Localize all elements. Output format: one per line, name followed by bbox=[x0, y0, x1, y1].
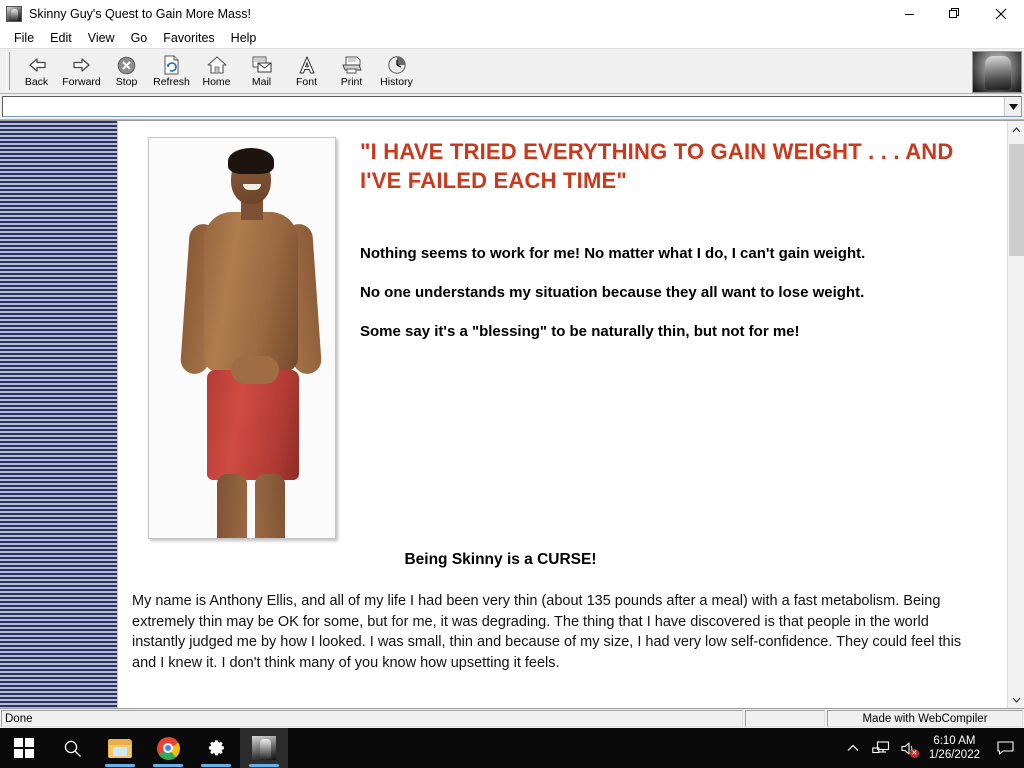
scrollbar-thumb[interactable] bbox=[1009, 144, 1024, 256]
toolbar-grip[interactable] bbox=[6, 52, 10, 90]
folder-icon bbox=[108, 739, 132, 758]
windows-logo-icon bbox=[14, 738, 34, 758]
home-label: Home bbox=[202, 77, 230, 88]
menu-bar: File Edit View Go Favorites Help bbox=[0, 28, 1024, 48]
back-label: Back bbox=[25, 77, 48, 88]
toolbar: Back Forward Stop bbox=[0, 48, 1024, 94]
refresh-button[interactable]: Refresh bbox=[149, 49, 194, 93]
taskbar-skinny-guy-app-button[interactable] bbox=[240, 728, 288, 768]
refresh-label: Refresh bbox=[153, 77, 190, 88]
address-bar bbox=[0, 94, 1024, 120]
hero-row: "I HAVE TRIED EVERYTHING TO GAIN WEIGHT … bbox=[132, 121, 989, 539]
restore-icon[interactable] bbox=[932, 0, 978, 28]
page-area: "I HAVE TRIED EVERYTHING TO GAIN WEIGHT … bbox=[0, 120, 1024, 708]
bold-paragraph-2: No one understands my situation because … bbox=[360, 282, 979, 303]
screen: Skinny Guy's Quest to Gain More Mass! bbox=[0, 0, 1024, 768]
print-button[interactable]: Print bbox=[329, 49, 374, 93]
gear-icon bbox=[205, 737, 227, 759]
history-label: History bbox=[380, 77, 413, 88]
running-indicator bbox=[249, 764, 279, 767]
taskbar-search-button[interactable] bbox=[48, 728, 96, 768]
chevron-up-icon[interactable] bbox=[839, 728, 867, 768]
start-button[interactable] bbox=[0, 728, 48, 768]
home-button[interactable]: Home bbox=[194, 49, 239, 93]
taskbar-chrome-button[interactable] bbox=[144, 728, 192, 768]
status-credit: Made with WebCompiler bbox=[827, 710, 1023, 727]
close-icon[interactable] bbox=[978, 0, 1024, 28]
scroll-down-icon[interactable] bbox=[1008, 691, 1024, 708]
chrome-icon bbox=[157, 737, 180, 760]
clock-time: 6:10 AM bbox=[929, 734, 980, 748]
speaker-muted-icon[interactable]: ✕ bbox=[895, 728, 923, 768]
bold-paragraph-3: Some say it's a "blessing" to be natural… bbox=[360, 321, 979, 342]
search-icon bbox=[63, 739, 82, 758]
font-letter-a-icon bbox=[297, 54, 317, 76]
back-button[interactable]: Back bbox=[14, 49, 59, 93]
running-indicator bbox=[153, 764, 183, 767]
muscle-photo-icon bbox=[251, 735, 277, 761]
page-headline: "I HAVE TRIED EVERYTHING TO GAIN WEIGHT … bbox=[360, 137, 979, 195]
menu-item-help[interactable]: Help bbox=[223, 30, 265, 46]
stop-label: Stop bbox=[116, 77, 138, 88]
print-label: Print bbox=[341, 77, 363, 88]
scroll-up-icon[interactable] bbox=[1008, 121, 1024, 138]
font-button[interactable]: Font bbox=[284, 49, 329, 93]
clock-date: 1/26/2022 bbox=[929, 748, 980, 762]
muscle-photo-icon bbox=[6, 6, 22, 22]
arrow-left-icon bbox=[26, 54, 48, 76]
arrow-right-icon bbox=[71, 54, 93, 76]
vertical-scrollbar[interactable] bbox=[1007, 121, 1024, 708]
menu-item-go[interactable]: Go bbox=[123, 30, 156, 46]
chevron-down-icon[interactable] bbox=[1004, 97, 1021, 116]
bold-paragraph-1: Nothing seems to work for me! No matter … bbox=[360, 243, 979, 264]
history-button[interactable]: History bbox=[374, 49, 419, 93]
bodybuilder-torso-logo bbox=[972, 51, 1022, 93]
window-title: Skinny Guy's Quest to Gain More Mass! bbox=[29, 7, 251, 21]
thin-man-in-red-shorts-photo bbox=[148, 137, 336, 539]
minimize-icon[interactable] bbox=[886, 0, 932, 28]
menu-item-view[interactable]: View bbox=[80, 30, 123, 46]
notification-icon[interactable] bbox=[990, 728, 1020, 768]
browser-window: Skinny Guy's Quest to Gain More Mass! bbox=[0, 0, 1024, 728]
system-tray: ✕ 6:10 AM 1/26/2022 bbox=[839, 728, 1024, 768]
story-paragraph: My name is Anthony Ellis, and all of my … bbox=[132, 591, 989, 673]
taskbar: ✕ 6:10 AM 1/26/2022 bbox=[0, 728, 1024, 768]
scrollbar-track[interactable] bbox=[1008, 138, 1024, 691]
menu-item-edit[interactable]: Edit bbox=[42, 30, 80, 46]
page-content: "I HAVE TRIED EVERYTHING TO GAIN WEIGHT … bbox=[118, 121, 1007, 708]
home-icon bbox=[206, 54, 228, 76]
stop-circle-icon bbox=[117, 54, 136, 76]
running-indicator bbox=[201, 764, 231, 767]
font-label: Font bbox=[296, 77, 317, 88]
taskbar-spacer bbox=[288, 728, 839, 768]
title-bar: Skinny Guy's Quest to Gain More Mass! bbox=[0, 0, 1024, 28]
menu-item-favorites[interactable]: Favorites bbox=[155, 30, 222, 46]
mute-badge: ✕ bbox=[910, 749, 919, 758]
window-controls bbox=[886, 0, 1024, 28]
address-input[interactable] bbox=[3, 98, 1004, 115]
printer-icon bbox=[341, 54, 363, 76]
mail-button[interactable]: Mail bbox=[239, 49, 284, 93]
taskbar-clock[interactable]: 6:10 AM 1/26/2022 bbox=[923, 728, 990, 768]
taskbar-explorer-button[interactable] bbox=[96, 728, 144, 768]
page-sidebar-striped bbox=[0, 121, 118, 708]
taskbar-buttons bbox=[0, 728, 288, 768]
menu-item-file[interactable]: File bbox=[6, 30, 42, 46]
refresh-page-icon bbox=[162, 54, 181, 76]
mail-label: Mail bbox=[252, 77, 271, 88]
forward-label: Forward bbox=[62, 77, 101, 88]
status-pane-middle bbox=[745, 710, 825, 727]
stop-button[interactable]: Stop bbox=[104, 49, 149, 93]
address-combo[interactable] bbox=[2, 96, 1022, 117]
status-message: Done bbox=[1, 710, 743, 727]
mail-icon bbox=[251, 54, 273, 76]
forward-button[interactable]: Forward bbox=[59, 49, 104, 93]
status-bar: Done Made with WebCompiler bbox=[0, 708, 1024, 728]
taskbar-settings-button[interactable] bbox=[192, 728, 240, 768]
running-indicator bbox=[105, 764, 135, 767]
history-clock-icon bbox=[387, 54, 407, 76]
hero-text-column: "I HAVE TRIED EVERYTHING TO GAIN WEIGHT … bbox=[336, 137, 989, 360]
page-subheading: Being Skinny is a CURSE! bbox=[132, 551, 989, 569]
network-icon[interactable] bbox=[867, 728, 895, 768]
